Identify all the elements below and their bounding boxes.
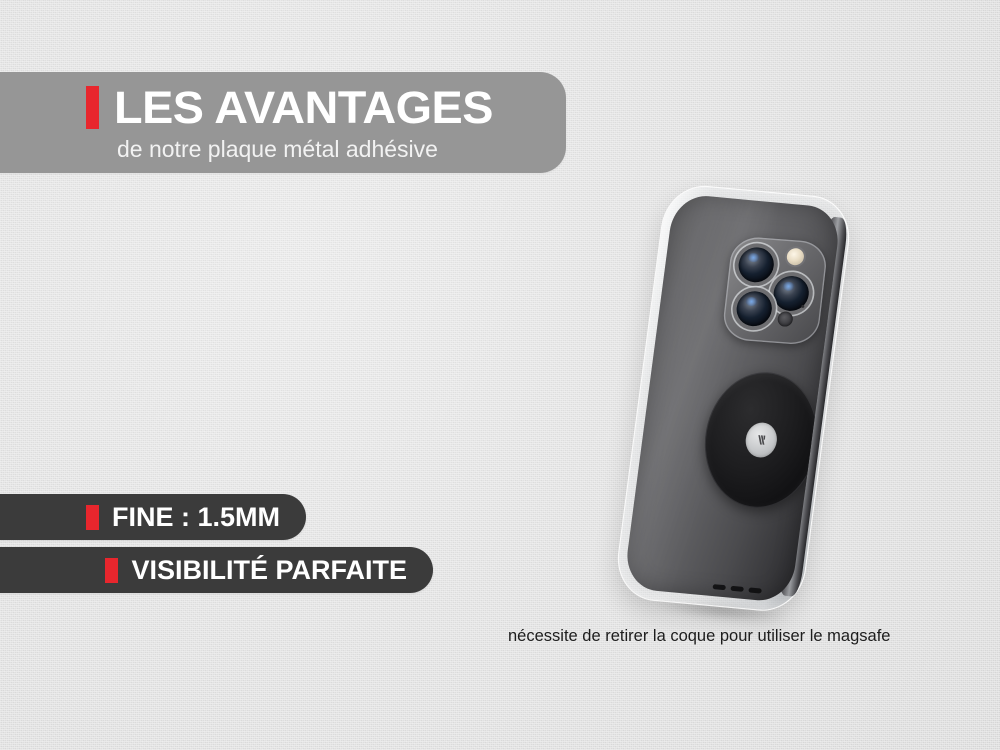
camera-lens-icon (735, 290, 774, 327)
grille-hole (730, 586, 744, 592)
header-title-row: LES AVANTAGES (86, 85, 478, 130)
feature-badge-thickness: FINE : 1.5MM (0, 494, 306, 540)
badge-accent-bar-icon (105, 558, 118, 583)
microphone-icon (801, 305, 804, 308)
feature-badge-content: FINE : 1.5MM (86, 504, 306, 531)
product-feature-slide: LES AVANTAGES de notre plaque métal adhé… (0, 0, 1000, 750)
page-subtitle: de notre plaque métal adhésive (117, 136, 438, 162)
grille-hole (712, 584, 726, 590)
camera-flash-icon (786, 248, 805, 266)
feature-badge-visibility: VISIBILITÉ PARFAITE (0, 547, 433, 593)
brand-logo-icon (744, 422, 778, 459)
phone-body (623, 193, 842, 603)
product-caption: nécessite de retirer la coque pour utili… (508, 626, 928, 646)
camera-lens-icon (737, 246, 776, 283)
badge-accent-bar-icon (86, 505, 99, 530)
header-banner: LES AVANTAGES de notre plaque métal adhé… (0, 72, 566, 173)
camera-lens-icon (772, 275, 811, 312)
title-accent-bar-icon (86, 86, 99, 129)
phone-rotation-wrapper (568, 171, 892, 632)
feature-badge-label: VISIBILITÉ PARFAITE (131, 557, 407, 584)
product-image-phone (596, 182, 864, 622)
camera-module (721, 236, 829, 346)
feature-badge-label: FINE : 1.5MM (112, 504, 280, 531)
feature-badge-content: VISIBILITÉ PARFAITE (105, 557, 433, 584)
page-title: LES AVANTAGES (114, 85, 493, 130)
header-banner-inner: LES AVANTAGES de notre plaque métal adhé… (0, 72, 566, 173)
lidar-sensor-icon (777, 311, 794, 327)
grille-hole (748, 587, 762, 593)
